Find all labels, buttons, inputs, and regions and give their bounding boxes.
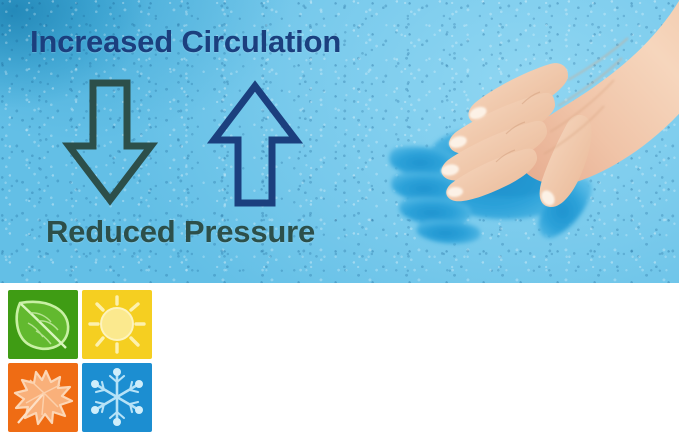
tile-winter-snowflake	[82, 363, 152, 432]
down-arrow-icon	[62, 78, 158, 213]
tile-spring-leaf	[8, 290, 78, 359]
product-feature-image: Increased Circulation Reduced Pressure	[0, 0, 679, 436]
increased-circulation-label: Increased Circulation	[30, 24, 341, 60]
up-arrow-icon	[207, 78, 303, 213]
reduced-pressure-label: Reduced Pressure	[46, 214, 315, 250]
season-icon-grid	[8, 290, 152, 432]
sun-icon	[82, 290, 152, 359]
gel-foam-photo: Increased Circulation Reduced Pressure	[0, 0, 679, 283]
snowflake-icon	[82, 363, 152, 432]
tile-summer-sun	[82, 290, 152, 359]
maple-leaf-icon	[8, 363, 78, 432]
hand-and-handprint	[372, 0, 679, 264]
tile-autumn-maple-leaf	[8, 363, 78, 432]
leaf-icon	[8, 290, 78, 359]
hand	[440, 0, 679, 208]
feature-panel: 100% GEL-Infused Memory Foam with Temper…	[0, 283, 679, 436]
